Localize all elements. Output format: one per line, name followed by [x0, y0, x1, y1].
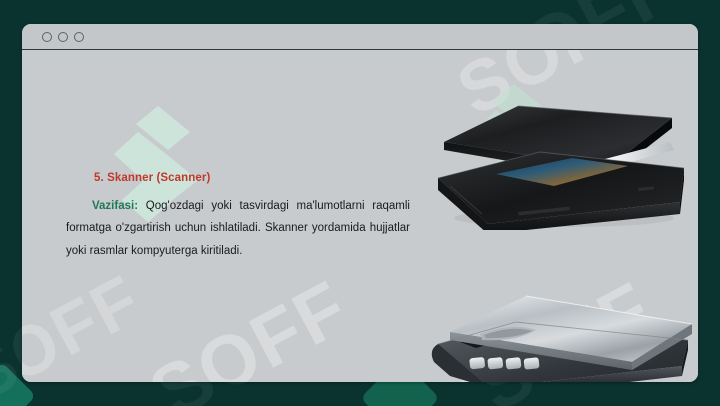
scanner-image-top [422, 90, 698, 230]
slide-content: SOFF SOFF SOFF SOFF 5. Skanner (Scanner) [22, 50, 698, 382]
body-paragraph: Vazifasi: Qog'ozdagi yoki tasvirdagi ma'… [66, 195, 410, 262]
vazifasi-label: Vazifasi: [92, 200, 138, 212]
black-flatbed-scanner-icon [422, 90, 698, 230]
close-dot-icon[interactable] [42, 32, 52, 42]
watermark-text: SOFF [22, 259, 154, 382]
minimize-dot-icon[interactable] [58, 32, 68, 42]
window-controls[interactable] [42, 32, 84, 42]
watermark-text: SOFF [136, 264, 363, 382]
section-heading: 5. Skanner (Scanner) [94, 172, 410, 184]
scanner-image-bottom [420, 282, 698, 382]
maximize-dot-icon[interactable] [74, 32, 84, 42]
window-titlebar [22, 24, 698, 50]
silver-flatbed-scanner-icon [420, 282, 698, 382]
slide-card: SOFF SOFF SOFF SOFF 5. Skanner (Scanner) [22, 24, 698, 382]
text-block: 5. Skanner (Scanner) Vazifasi: Qog'ozdag… [66, 172, 410, 262]
